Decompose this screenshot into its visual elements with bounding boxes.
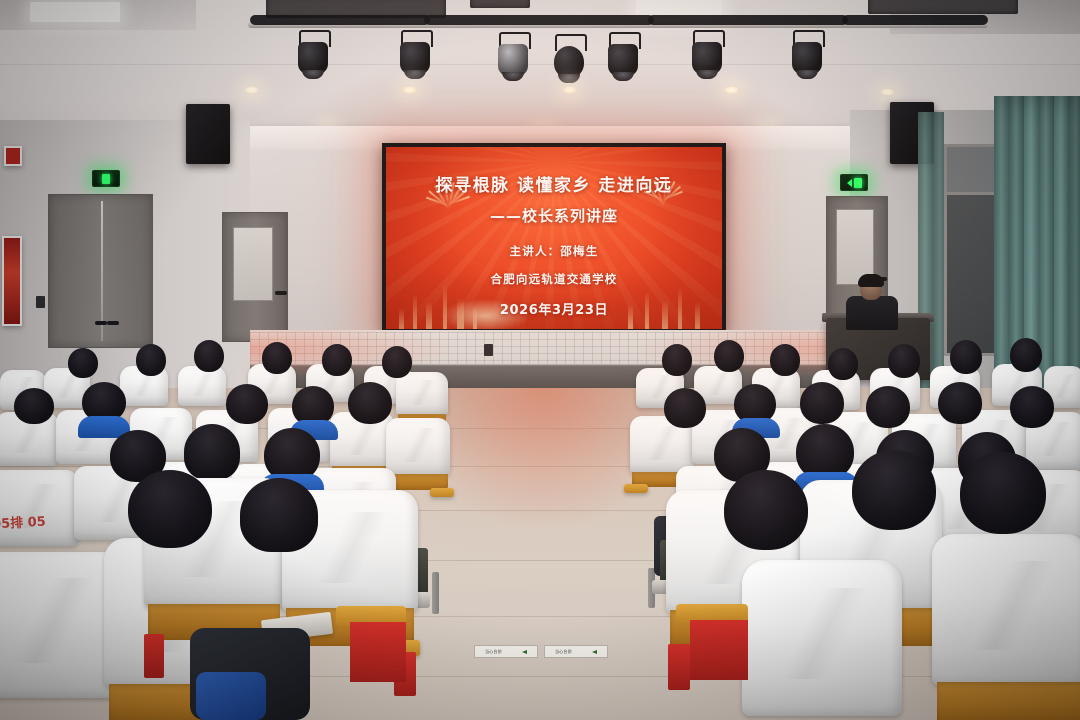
student-head	[950, 340, 982, 374]
draped-jacket-foreground	[196, 672, 266, 720]
wall-speaker-left	[186, 104, 230, 164]
student-head	[1010, 338, 1042, 372]
exit-sign-icon	[840, 174, 868, 191]
floor-sign-text: 当心台阶	[555, 649, 572, 655]
student-head	[14, 388, 54, 424]
truss-cable	[842, 15, 988, 25]
student-head	[714, 340, 744, 372]
floor-sign-text: 当心台阶	[485, 649, 502, 655]
ceiling-vent-mid	[470, 0, 530, 8]
screen-title-main: 探寻根脉 读懂家乡 走进向远	[436, 171, 673, 196]
auditorium-photo: 探寻根脉 读懂家乡 走进向远 ——校长系列讲座 主讲人：邵梅生 合肥向远轨道交通…	[0, 0, 1080, 720]
door-stage-left[interactable]	[222, 212, 288, 342]
screen-text-block: 探寻根脉 读懂家乡 走进向远 ——校长系列讲座 主讲人：邵梅生 合肥向远轨道交通…	[386, 147, 722, 329]
ceiling-light-panel	[30, 2, 120, 22]
seat-leg	[432, 572, 439, 614]
student-head-foreground	[240, 478, 318, 552]
student-head	[262, 342, 292, 374]
student-head	[322, 344, 352, 376]
student-head	[938, 382, 982, 424]
ceiling-seam	[0, 64, 1080, 65]
student-head	[734, 384, 776, 424]
truss-cable	[250, 15, 430, 25]
student-head	[770, 344, 800, 376]
seat-row	[396, 372, 448, 416]
student-head	[226, 384, 268, 424]
student-head	[382, 346, 412, 378]
ceiling-vent-right	[868, 0, 1018, 14]
seat-number-label: 05排 05	[0, 511, 46, 533]
screen-organization: 合肥向远轨道交通学校	[491, 271, 618, 287]
led-screen-surface: 探寻根脉 读懂家乡 走进向远 ——校长系列讲座 主讲人：邵梅生 合肥向远轨道交通…	[386, 147, 722, 329]
floor-caution-sign: 当心台阶	[544, 645, 608, 658]
arrow-icon	[522, 650, 527, 654]
exit-sign-icon	[92, 170, 120, 187]
floor-caution-sign: 当心台阶	[474, 645, 538, 658]
student-head-foreground	[724, 470, 808, 550]
student-head	[264, 428, 320, 482]
downlight	[244, 86, 259, 94]
seat-row	[178, 366, 226, 406]
seat-row-foreground	[932, 534, 1080, 686]
downlight	[724, 86, 739, 94]
truss-cable	[424, 15, 654, 25]
student-head-foreground	[852, 450, 936, 530]
student-head-foreground	[960, 452, 1046, 534]
student-head-foreground	[128, 470, 212, 548]
downlight	[402, 86, 417, 94]
student-head	[888, 344, 920, 378]
student-head	[662, 344, 692, 376]
door-left-rear[interactable]	[48, 194, 153, 348]
seat-side-panel	[350, 622, 406, 682]
student-head	[828, 348, 858, 380]
wall-poster-left	[2, 236, 22, 326]
seat-row: 05排 05	[0, 470, 78, 546]
led-stage-screen: 探寻根脉 读懂家乡 走进向远 ——校长系列讲座 主讲人：邵梅生 合肥向远轨道交通…	[382, 143, 726, 333]
seat-row-foreground	[742, 560, 902, 716]
student-head	[292, 386, 334, 426]
screen-presenter: 主讲人：邵梅生	[510, 243, 599, 259]
student-head	[664, 388, 706, 428]
downlight	[562, 86, 577, 94]
student-head	[136, 344, 166, 376]
student-head	[800, 382, 844, 424]
downlight	[880, 88, 895, 96]
screen-title-sub: ——校长系列讲座	[490, 205, 618, 226]
student-head	[866, 386, 910, 428]
student-head	[68, 348, 98, 378]
student-head	[348, 382, 392, 424]
screen-date: 2026年3月23日	[500, 299, 608, 318]
arrow-icon	[592, 650, 597, 654]
student-head	[82, 382, 126, 422]
student-head	[1010, 386, 1054, 428]
stage-wall-outlet	[484, 344, 493, 356]
seat-side-panel	[690, 620, 748, 680]
speaker-person	[846, 276, 898, 326]
truss-cable	[648, 15, 848, 25]
wall-poster-small-left	[4, 146, 22, 166]
student-head	[194, 340, 224, 372]
wall-switch-plate	[36, 296, 45, 308]
